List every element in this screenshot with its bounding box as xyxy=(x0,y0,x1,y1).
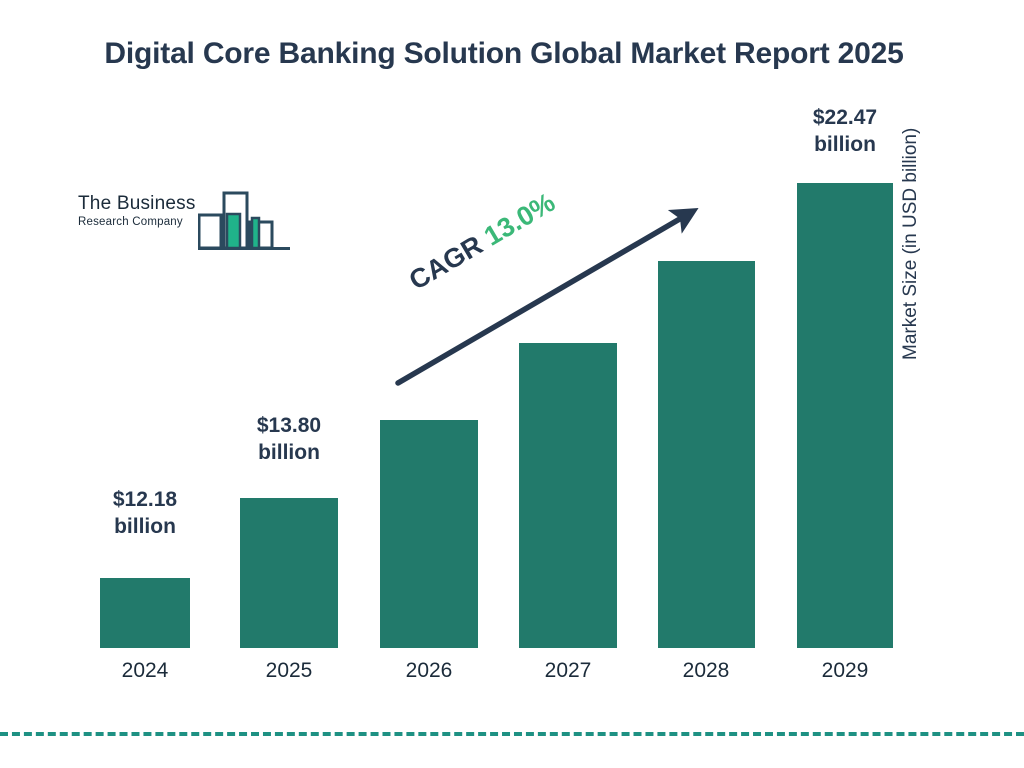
bar-value-2025-amount: $13.80 xyxy=(229,412,349,439)
logo-text: The Business Research Company xyxy=(78,194,206,230)
x-tick-2026: 2026 xyxy=(369,659,489,683)
logo-line-1: The Business xyxy=(78,194,206,214)
bar-value-2029-unit: billion xyxy=(785,131,905,158)
bar-2025 xyxy=(240,498,338,648)
logo-line-2: Research Company xyxy=(78,216,206,230)
bar-value-2025: $13.80 billion xyxy=(229,412,349,467)
bar-value-2024: $12.18 billion xyxy=(85,486,205,541)
bar-value-2024-amount: $12.18 xyxy=(85,486,205,513)
company-logo: The Business Research Company xyxy=(78,188,288,250)
y-axis-title: Market Size (in USD billion) xyxy=(900,0,922,360)
x-tick-2025: 2025 xyxy=(229,659,349,683)
bar-value-2025-unit: billion xyxy=(229,439,349,466)
footer-divider xyxy=(0,732,1024,736)
bar-2029 xyxy=(797,183,893,648)
x-tick-2024: 2024 xyxy=(85,659,205,683)
x-tick-2027: 2027 xyxy=(508,659,628,683)
bar-value-2024-unit: billion xyxy=(85,513,205,540)
bar-2024 xyxy=(100,578,190,648)
bar-value-2029-amount: $22.47 xyxy=(785,104,905,131)
page-title: Digital Core Banking Solution Global Mar… xyxy=(80,34,928,75)
bar-chart-logo-mark xyxy=(198,188,290,255)
chart-canvas: Digital Core Banking Solution Global Mar… xyxy=(0,0,1024,768)
x-tick-2029: 2029 xyxy=(785,659,905,683)
bar-2026 xyxy=(380,420,478,648)
x-tick-2028: 2028 xyxy=(646,659,766,683)
bar-value-2029: $22.47 billion xyxy=(785,104,905,159)
